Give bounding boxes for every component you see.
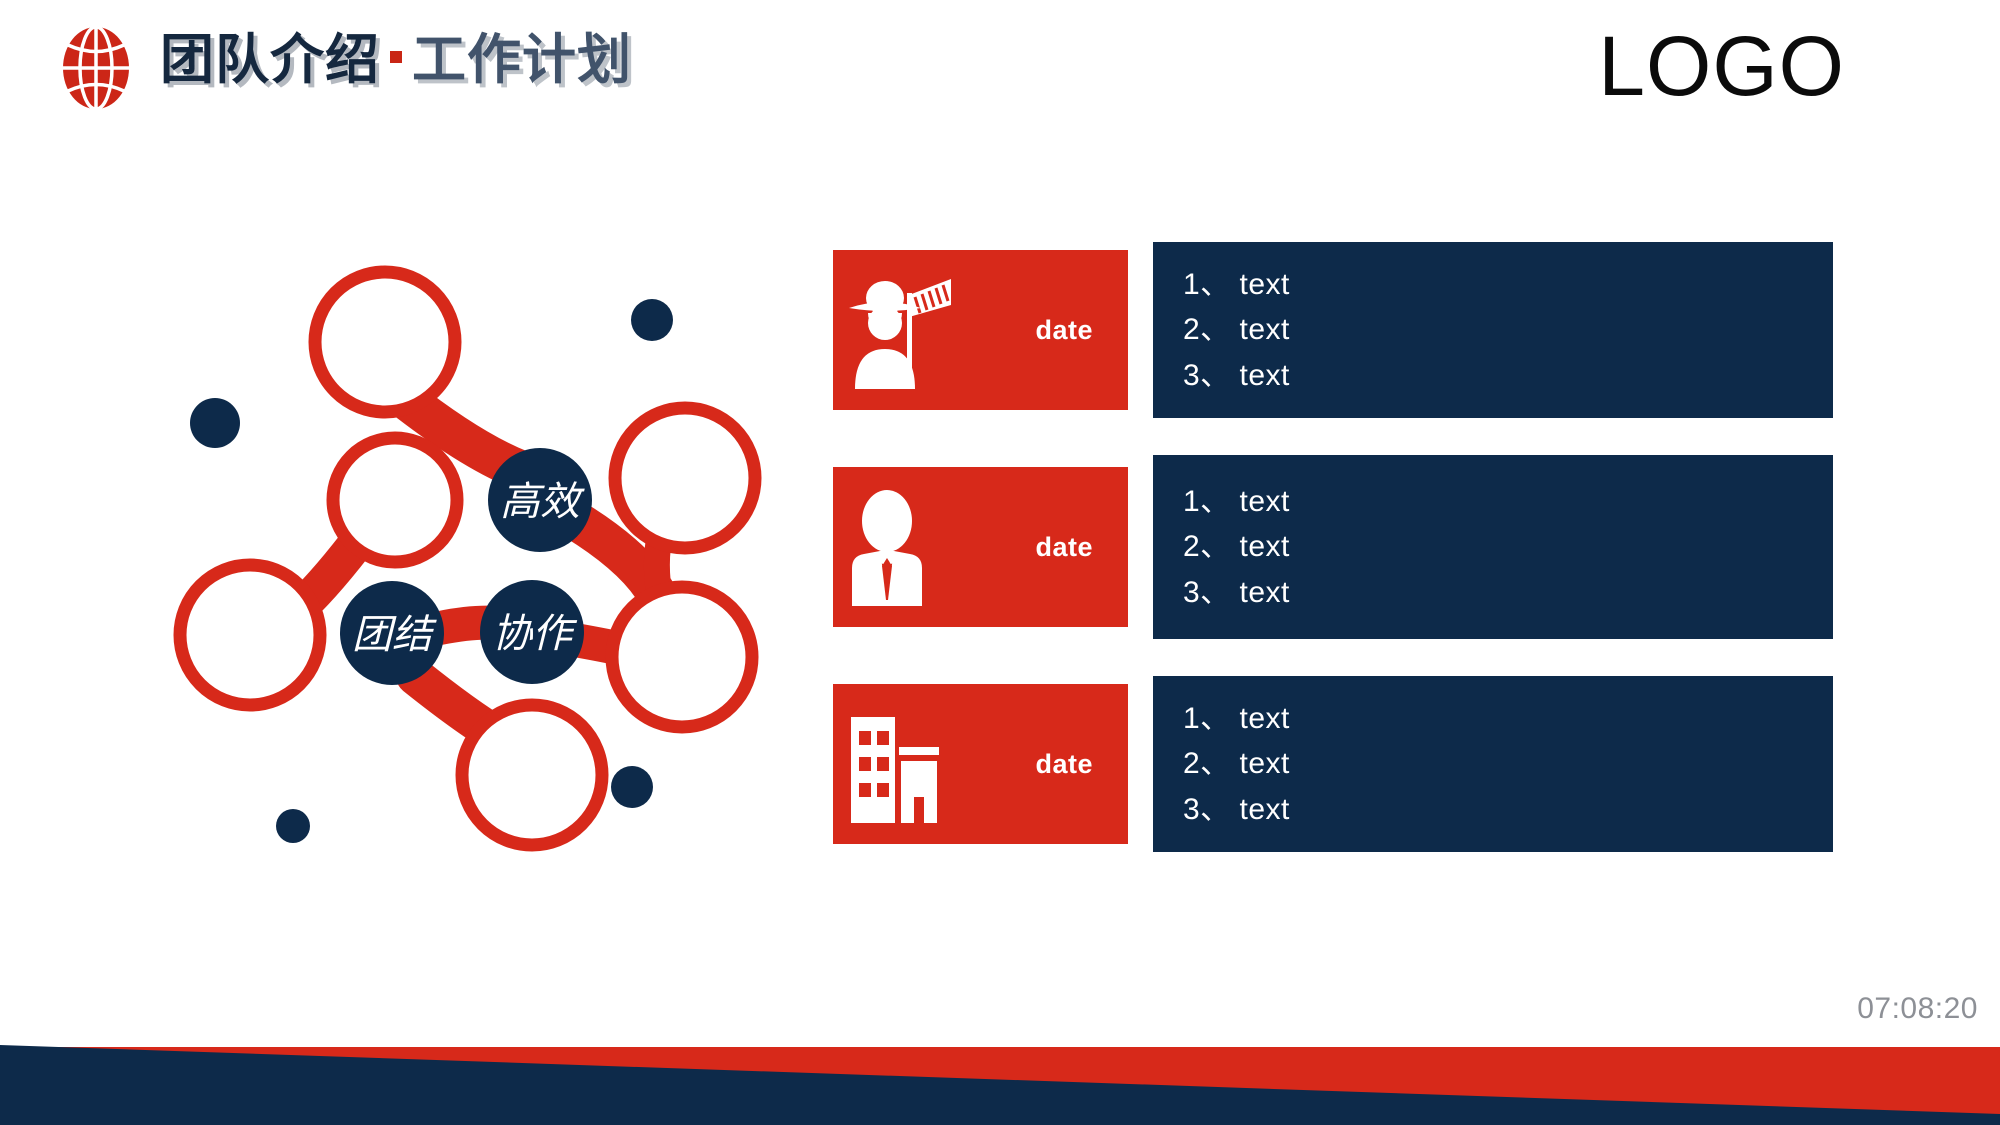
outline-node	[315, 272, 455, 412]
date-card[interactable]: date	[833, 467, 1128, 627]
worker-with-flag-icon	[847, 271, 957, 389]
date-label: date	[1035, 532, 1093, 563]
outline-node	[615, 408, 755, 548]
slide-header: 团队介绍工作计划 LOGO	[0, 0, 2000, 140]
date-label: date	[1035, 315, 1093, 346]
businessman-icon	[847, 488, 957, 606]
filled-node-label: 协作	[492, 611, 578, 657]
bullet-item: 1、 text	[1183, 696, 1833, 742]
bullet-item: 1、 text	[1183, 479, 1833, 525]
bullet-item: 2、 text	[1183, 741, 1833, 787]
bullet-item: 2、 text	[1183, 524, 1833, 570]
accent-dot	[276, 809, 310, 843]
detail-card: 1、 text 2、 text 3、 text	[1153, 676, 1833, 852]
outline-node	[612, 587, 752, 727]
timeline-row: date 1、 text 2、 text 3、 text	[833, 684, 1843, 844]
outline-node	[462, 705, 602, 845]
clock-readout: 07:08:20	[1857, 992, 1978, 1026]
date-card[interactable]: date	[833, 684, 1128, 844]
date-label: date	[1035, 749, 1093, 780]
bullet-item: 3、 text	[1183, 787, 1833, 833]
accent-dot	[190, 398, 240, 448]
page-title-part2: 工作计划	[412, 30, 632, 90]
bullet-item: 3、 text	[1183, 570, 1833, 616]
timeline-list: date 1、 text 2、 text 3、 text date 1、 tex…	[833, 250, 1843, 850]
footer-decoration	[0, 1040, 2000, 1125]
outline-node	[333, 438, 457, 562]
office-building-icon	[847, 705, 957, 823]
filled-node-label: 高效	[500, 479, 585, 525]
bullet-item: 3、 text	[1183, 353, 1833, 399]
page-title-part1: 团队介绍	[160, 30, 380, 90]
title-separator-dot	[390, 51, 402, 63]
accent-dot	[611, 766, 653, 808]
bullet-item: 1、 text	[1183, 262, 1833, 308]
filled-node-label: 团结	[352, 612, 437, 658]
outline-node	[180, 565, 320, 705]
timeline-row: date 1、 text 2、 text 3、 text	[833, 250, 1843, 410]
logo-placeholder-text: LOGO	[1598, 24, 1845, 108]
date-card[interactable]: date	[833, 250, 1128, 410]
detail-card: 1、 text 2、 text 3、 text	[1153, 242, 1833, 418]
team-cluster-diagram: 高效 团结 协作	[140, 250, 780, 890]
globe-icon	[50, 22, 142, 114]
timeline-row: date 1、 text 2、 text 3、 text	[833, 467, 1843, 627]
page-title: 团队介绍工作计划	[160, 33, 632, 87]
accent-dot	[631, 299, 673, 341]
bullet-item: 2、 text	[1183, 307, 1833, 353]
detail-card: 1、 text 2、 text 3、 text	[1153, 455, 1833, 639]
